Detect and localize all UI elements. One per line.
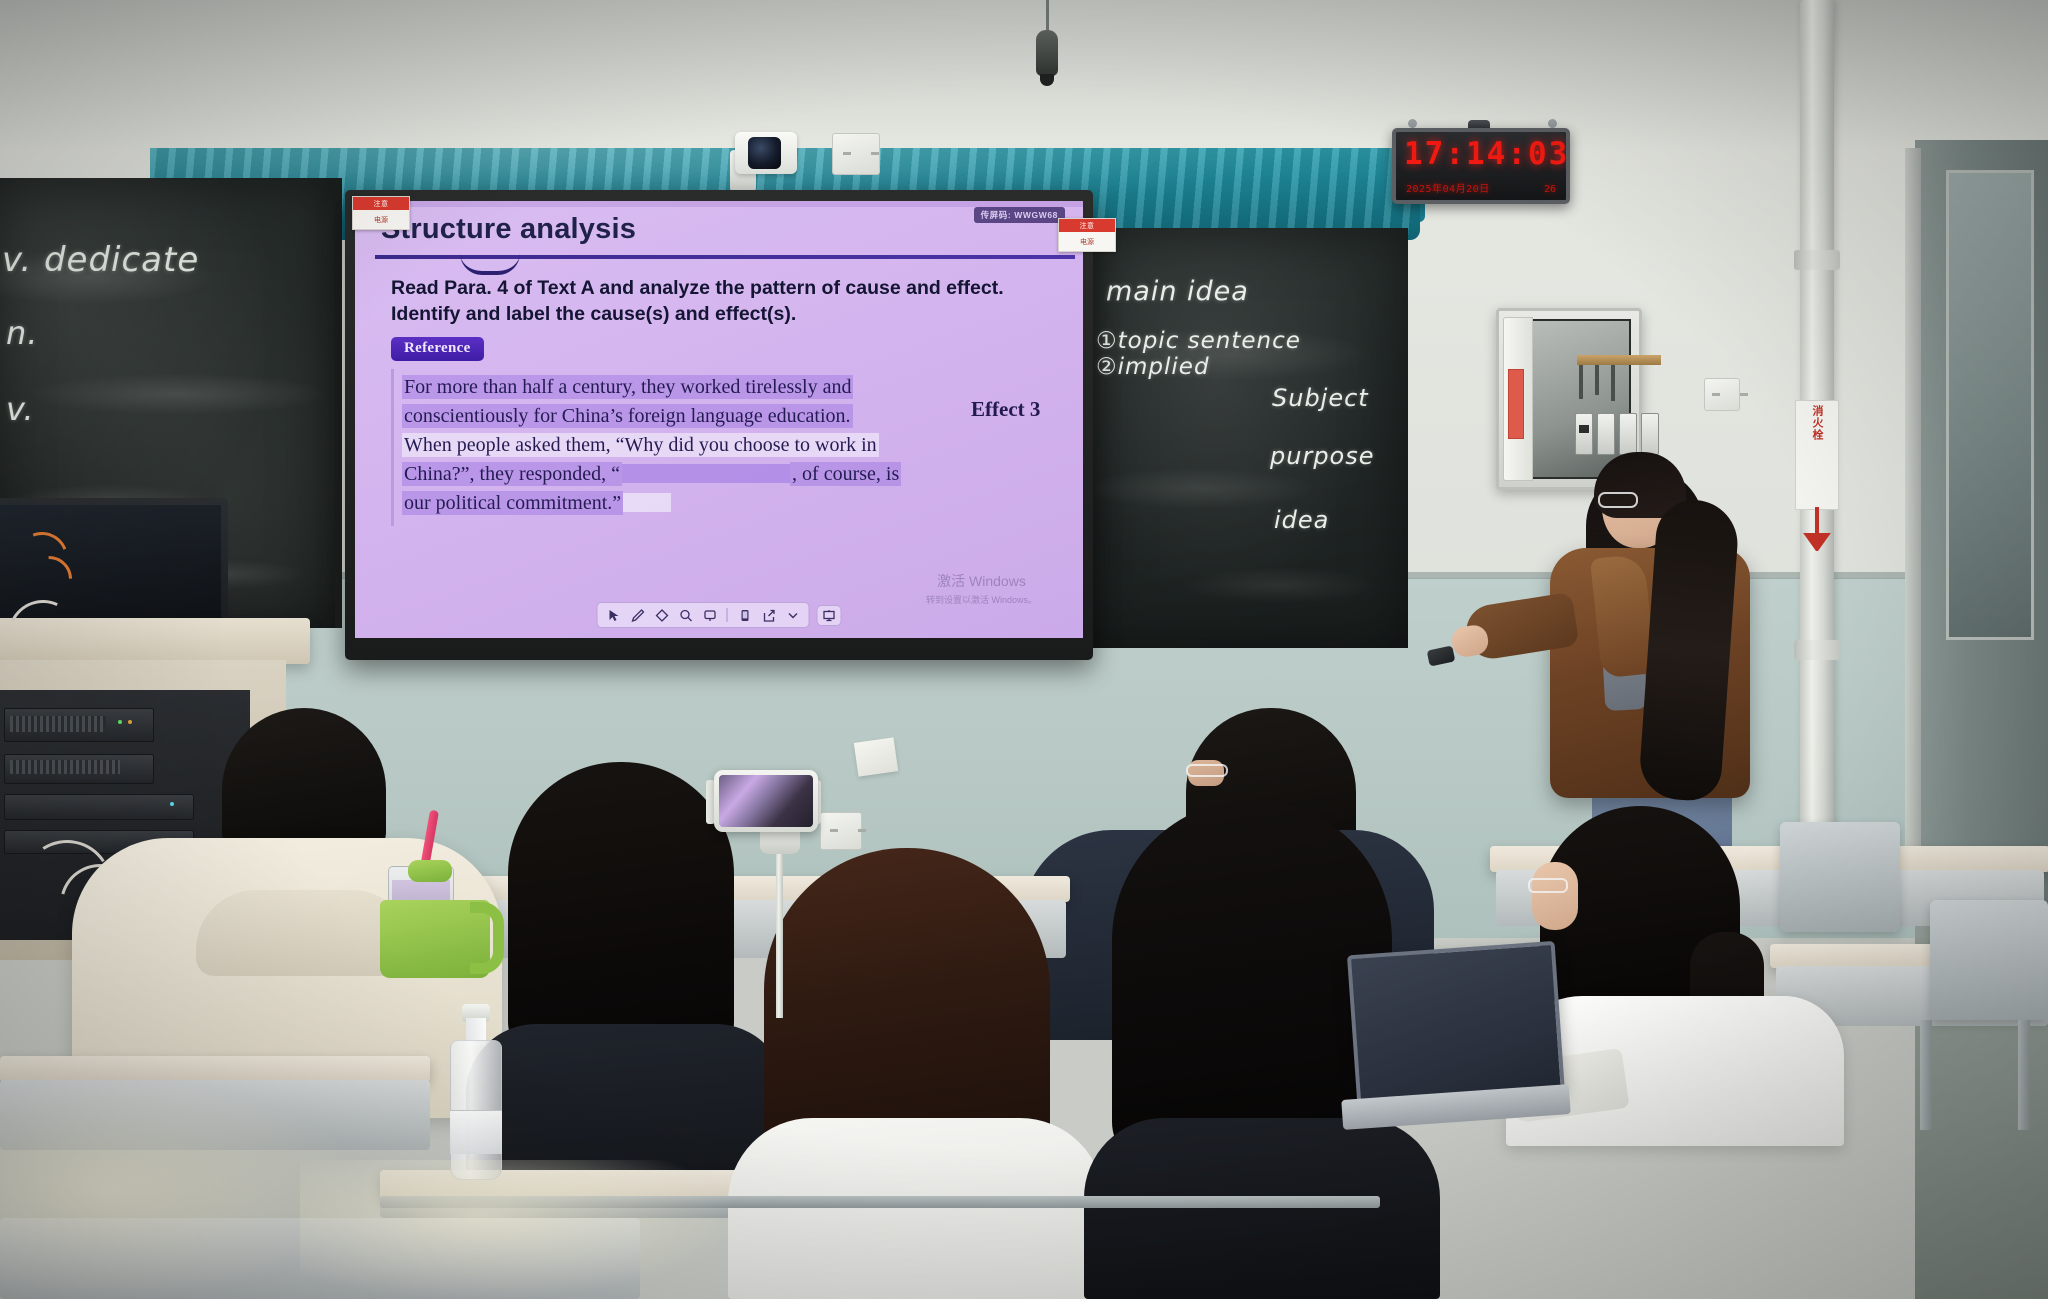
clock-time-display: 17:14:03 <box>1404 136 1566 172</box>
bottle-label <box>450 1110 502 1154</box>
display-screen[interactable]: 传屏码: WWGW68 Structure analysis Read Para… <box>355 201 1083 638</box>
slide-instruction: Read Para. 4 of Text A and analyze the p… <box>391 275 1041 327</box>
chalk-purpose: purpose <box>1270 442 1375 470</box>
tripod-pole <box>776 838 783 1018</box>
status-led <box>170 802 174 806</box>
slide-top-strip <box>355 201 1083 207</box>
ceiling-shadow <box>0 0 2048 150</box>
watermark-line-2: 转到设置以激活 Windows。 <box>926 593 1037 606</box>
spotlight-tool-icon[interactable] <box>699 606 721 624</box>
panel-wire <box>1595 365 1599 395</box>
reference-line-4: China?”, they responded, “, of course, i… <box>402 460 943 489</box>
laptop-screen[interactable] <box>1347 941 1565 1107</box>
student-5-glasses <box>1186 764 1228 777</box>
fire-hydrant-sign-label: 消火栓 <box>1811 405 1823 441</box>
slide-toolbar[interactable] <box>597 602 842 628</box>
rack-vent <box>10 716 106 732</box>
reference-text-box: For more than half a century, they worke… <box>391 369 951 526</box>
warning-tag: 注意 电源 <box>352 196 410 230</box>
whiteboard-tool-icon[interactable] <box>817 605 842 626</box>
chalk-line-1: v. dedicate <box>2 240 199 280</box>
screen-share-code: 传屏码: WWGW68 <box>974 207 1065 223</box>
chalk-topic-sentence: ①topic sentence ②implied <box>1096 328 1408 380</box>
student-4-shoulders <box>1084 1118 1440 1299</box>
student-2-hair <box>508 762 734 1062</box>
chalk-idea: idea <box>1274 506 1329 534</box>
desk-front-panel <box>0 1218 640 1299</box>
eraser-tool-icon[interactable] <box>651 606 673 624</box>
reference-line-3: When people asked them, “Why did you cho… <box>402 431 943 460</box>
cursor-tool-icon[interactable] <box>603 606 625 624</box>
classroom-scene: 消火栓 v. dedicate n. v. main idea ①topic s… <box>0 0 2048 1299</box>
chair-leg <box>1920 1020 1932 1130</box>
paper-scrap <box>854 737 898 776</box>
blank-answer-field[interactable] <box>622 464 790 483</box>
magnifier-tool-icon[interactable] <box>675 606 697 624</box>
fire-hydrant-sign: 消火栓 <box>1795 400 1839 510</box>
circuit-breaker[interactable] <box>1619 413 1637 455</box>
blank-answer-field[interactable] <box>623 493 671 512</box>
digital-wall-clock: 17:14:03 2025年04月20日 26 <box>1392 128 1570 204</box>
cup-lid <box>408 860 452 882</box>
circuit-breaker[interactable] <box>1597 413 1615 455</box>
reference-text: For more than half a century, they worke… <box>402 375 853 399</box>
pen-tool-icon[interactable] <box>627 606 649 624</box>
status-led <box>118 720 122 724</box>
warning-tag-body: 电源 <box>1059 232 1115 252</box>
desk-row-front-left <box>0 1056 430 1082</box>
desk-panel <box>0 1080 430 1150</box>
student-6-glasses <box>1528 878 1568 893</box>
panel-wire <box>1611 365 1615 401</box>
cup-holder-handle <box>470 902 504 974</box>
reference-line-2: conscientiously for China’s foreign lang… <box>402 402 943 431</box>
panel-wire <box>1579 365 1583 399</box>
chalk-subject: Subject <box>1272 384 1369 412</box>
clock-temperature-display: 26 <box>1544 184 1556 195</box>
reference-line-1: For more than half a century, they worke… <box>402 373 943 402</box>
reference-text: When people asked them, “Why did you cho… <box>402 433 879 457</box>
phone-screen[interactable] <box>719 775 813 827</box>
slide-title: Structure analysis <box>381 213 636 246</box>
teacher-glasses <box>1598 492 1638 508</box>
student-3-shoulders <box>728 1118 1104 1299</box>
clock-date-display: 2025年04月20日 <box>1406 180 1490 195</box>
down-arrow-icon <box>1803 505 1831 551</box>
toolbar-group[interactable] <box>597 602 810 628</box>
chair[interactable] <box>1780 822 1900 932</box>
reference-text: conscientiously for China’s foreign lang… <box>402 404 853 428</box>
pipe-band <box>1794 640 1840 660</box>
watermark-line-1: 激活 Windows <box>926 571 1037 591</box>
panel-busbar <box>1577 355 1661 365</box>
panel-warning-label <box>1508 369 1524 439</box>
chair-leg <box>2018 1020 2030 1130</box>
chalk-main-idea: main idea <box>1106 276 1249 307</box>
reference-text: China?”, they responded, “ <box>402 462 622 486</box>
blackboard-right: main idea ①topic sentence ②implied Subje… <box>1088 228 1408 648</box>
door-glass <box>1946 170 2034 640</box>
share-tool-icon[interactable] <box>758 606 780 624</box>
panel-interior <box>1531 319 1631 479</box>
toolbar-separator <box>727 608 728 622</box>
windows-activation-watermark: 激活 Windows 转到设置以激活 Windows。 <box>926 571 1037 606</box>
pipe-band <box>1794 250 1840 270</box>
wall-socket-plate[interactable] <box>820 812 862 850</box>
chalk-line-3: v. <box>6 390 35 428</box>
reference-line-5: our political commitment.” <box>402 489 943 518</box>
chalk-line-2: n. <box>6 314 38 352</box>
chevron-down-icon[interactable] <box>782 606 804 624</box>
reference-badge: Reference <box>391 337 484 361</box>
rack-vent <box>10 760 120 774</box>
warning-tag-body: 电源 <box>353 210 409 230</box>
wall-socket-plate[interactable] <box>832 133 880 175</box>
camera-lens-icon <box>748 137 781 169</box>
circuit-breaker[interactable] <box>1575 413 1593 455</box>
microphone-cable <box>1046 0 1049 34</box>
reference-text: our political commitment.” <box>402 491 623 515</box>
clock-stud <box>1408 119 1417 128</box>
slide-title-notch <box>460 253 520 275</box>
breaker-row[interactable] <box>1575 413 1659 455</box>
smart-display[interactable]: 传屏码: WWGW68 Structure analysis Read Para… <box>345 190 1093 660</box>
warning-tag-header: 注意 <box>353 197 409 210</box>
reference-text: , of course, is <box>790 462 901 486</box>
student-1-hair <box>222 708 386 858</box>
wall-socket-plate[interactable] <box>1704 378 1740 411</box>
desk-rail <box>380 1196 1380 1208</box>
door-frame <box>1905 148 1921 918</box>
status-led <box>128 720 132 724</box>
effect-label: Effect 3 <box>971 397 1040 422</box>
clock-stud <box>1548 119 1557 128</box>
tablet-tool-icon[interactable] <box>734 606 756 624</box>
warning-tag: 注意 电源 <box>1058 218 1116 252</box>
recording-phone[interactable] <box>714 770 818 832</box>
student-6-face <box>1532 862 1578 930</box>
ceiling-microphone <box>1036 30 1058 76</box>
rack-device[interactable] <box>4 794 194 820</box>
circuit-breaker[interactable] <box>1641 413 1659 455</box>
warning-tag-header: 注意 <box>1059 219 1115 232</box>
chair[interactable] <box>1930 900 2048 1020</box>
presentation-slide: 传屏码: WWGW68 Structure analysis Read Para… <box>355 201 1083 638</box>
